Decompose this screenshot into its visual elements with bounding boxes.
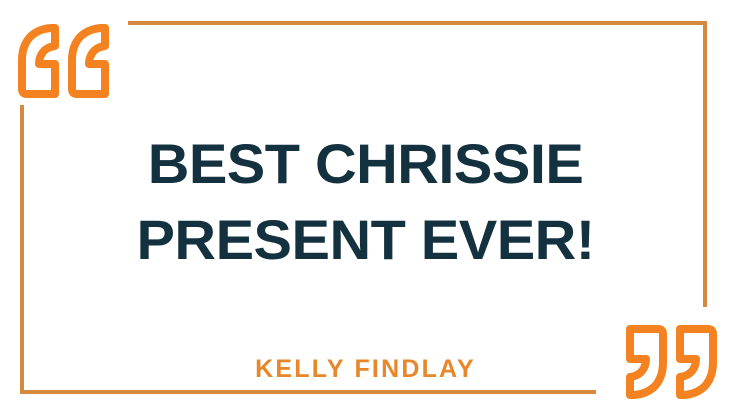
quote-text: BEST CHRISSIE PRESENT EVER!: [0, 126, 731, 278]
quote-line-1: BEST CHRISSIE: [0, 126, 731, 202]
frame-top-rule: [128, 21, 707, 25]
frame-bottom-rule: [20, 390, 596, 394]
attribution-name: KELLY FINDLAY: [255, 355, 476, 383]
quote-open-icon: [17, 24, 113, 98]
testimonial-quote-card: BEST CHRISSIE PRESENT EVER! KELLY FINDLA…: [0, 0, 731, 417]
quote-line-2: PRESENT EVER!: [0, 202, 731, 278]
attribution: KELLY FINDLAY: [0, 355, 731, 383]
